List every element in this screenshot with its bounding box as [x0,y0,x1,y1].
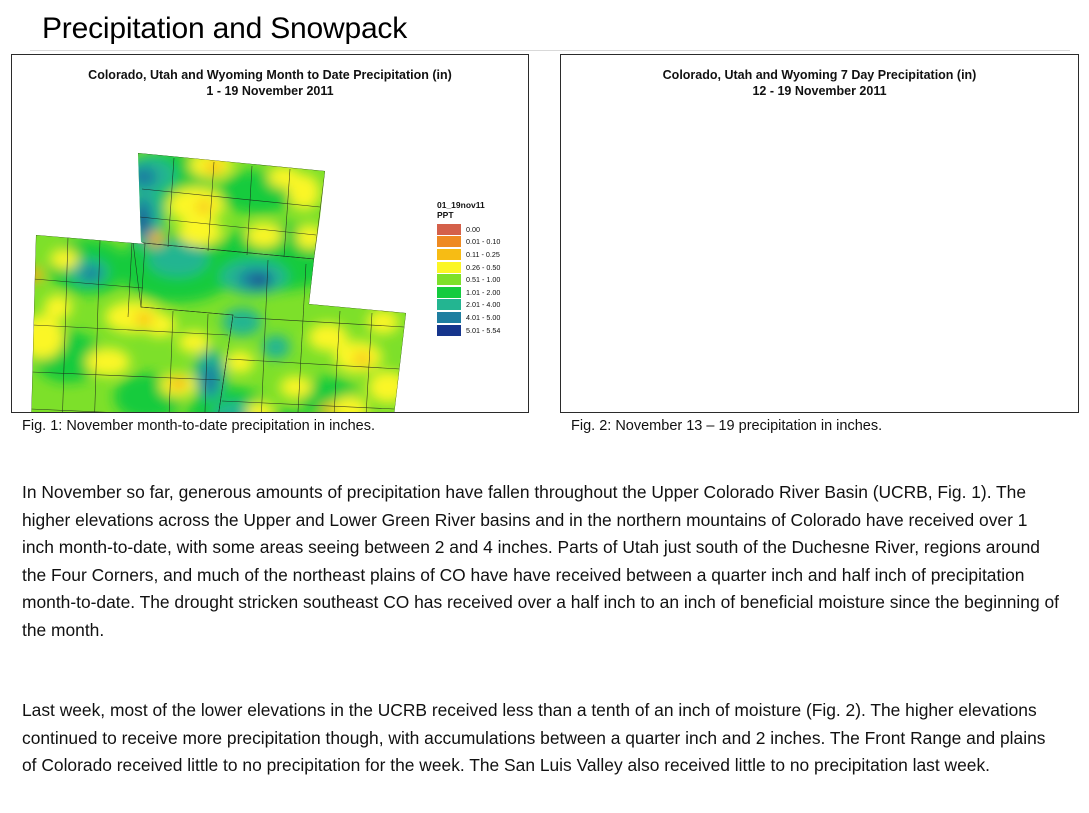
figure-2-title-line1: Colorado, Utah and Wyoming 7 Day Precipi… [663,68,977,82]
legend-swatch [437,312,461,323]
figure-2-caption: Fig. 2: November 13 – 19 precipitation i… [571,418,882,434]
legend-entry-label: 5.01 - 5.54 [466,326,500,335]
figure-1-frame: Colorado, Utah and Wyoming Month to Date… [11,54,529,413]
body-paragraph-1: In November so far, generous amounts of … [22,479,1064,644]
legend-entry: 2.01 - 4.00 [437,299,500,312]
legend-swatch [437,262,461,273]
legend-swatch [437,287,461,298]
legend-entry-label: 0.26 - 0.50 [466,263,500,272]
legend-entry: 0.26 - 0.50 [437,261,500,274]
legend-entry-label: 1.01 - 2.00 [466,288,500,297]
figure-2-title: Colorado, Utah and Wyoming 7 Day Precipi… [561,67,1078,99]
legend-swatch [437,299,461,310]
legend-swatch [437,224,461,235]
title-divider [30,50,1070,51]
legend-entry-label: 0.01 - 0.10 [466,237,500,246]
figure-1-title: Colorado, Utah and Wyoming Month to Date… [12,67,528,99]
figure-1-title-line2: 1 - 19 November 2011 [12,83,528,99]
legend-1-variable: PPT [437,211,500,220]
legend-entry-label: 0.11 - 0.25 [466,250,500,259]
legend-entry: 0.00 [437,223,500,236]
legend-swatch [437,249,461,260]
legend-swatch [437,325,461,336]
figure-1-legend: 01_19nov11 PPT 0.00 0.01 - 0.10 0.11 - 0… [437,201,500,336]
figure-2-title-line2: 12 - 19 November 2011 [561,83,1078,99]
legend-1-entries: 0.00 0.01 - 0.10 0.11 - 0.25 0.26 - 0.50… [437,223,500,336]
legend-entry: 0.01 - 0.10 [437,236,500,249]
page-title: Precipitation and Snowpack [42,12,407,46]
legend-entry-label: 0.00 [466,225,480,234]
figure-1-caption: Fig. 1: November month-to-date precipita… [22,418,375,434]
legend-entry-label: 0.51 - 1.00 [466,275,500,284]
legend-entry: 0.51 - 1.00 [437,273,500,286]
legend-1-name: 01_19nov11 [437,201,500,210]
legend-entry: 0.11 - 0.25 [437,248,500,261]
legend-entry-label: 4.01 - 5.00 [466,313,500,322]
legend-swatch [437,274,461,285]
figure-1-title-line1: Colorado, Utah and Wyoming Month to Date… [88,68,452,82]
legend-entry: 1.01 - 2.00 [437,286,500,299]
legend-entry: 5.01 - 5.54 [437,324,500,337]
legend-entry-label: 2.01 - 4.00 [466,300,500,309]
legend-swatch [437,236,461,247]
body-paragraph-2: Last week, most of the lower elevations … [22,697,1064,780]
figure-1-map [28,147,428,413]
figure-2-frame: Colorado, Utah and Wyoming 7 Day Precipi… [560,54,1079,413]
legend-entry: 4.01 - 5.00 [437,311,500,324]
